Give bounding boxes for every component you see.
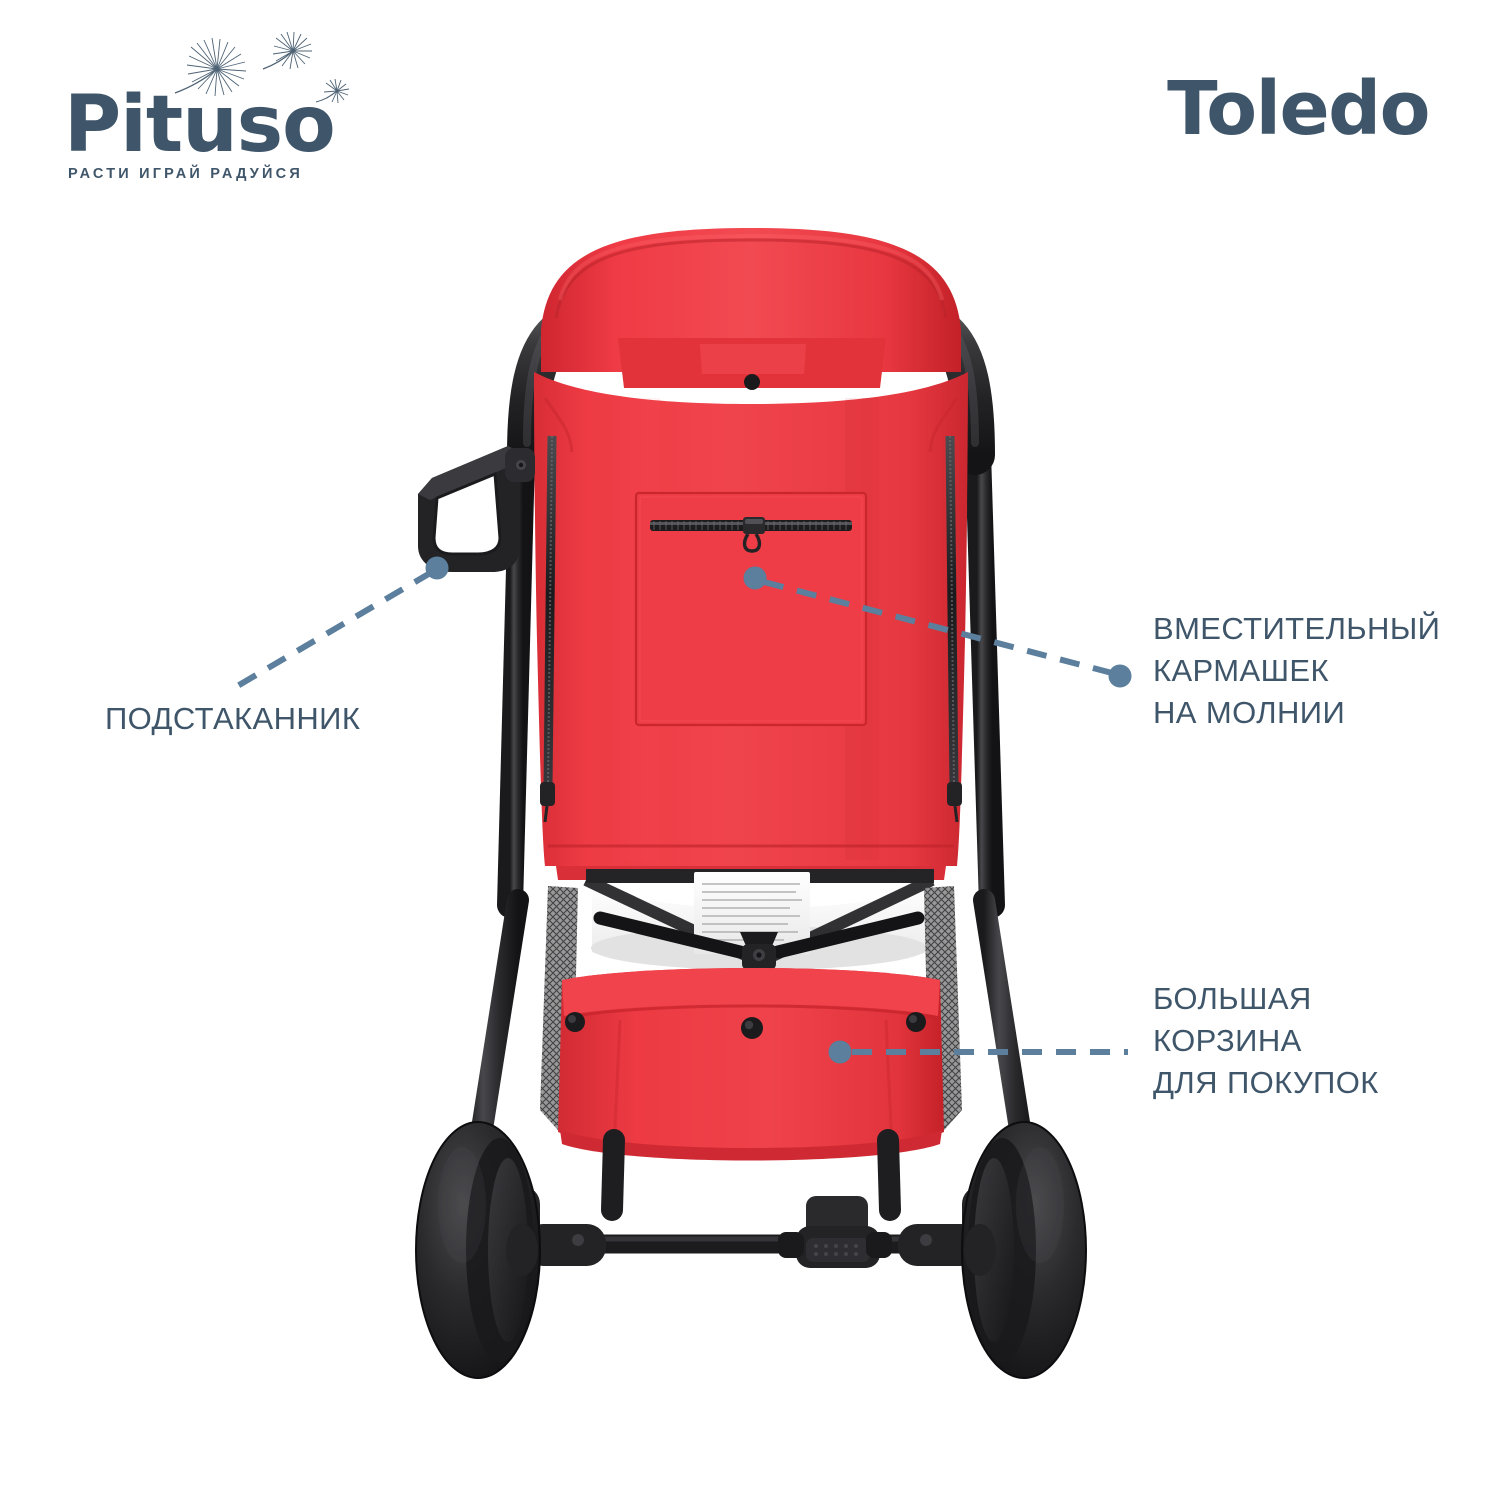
product-image-stroller: Pituso: [0, 0, 1501, 1501]
callout-cupholder: ПОДСТАКАННИК: [105, 698, 360, 740]
wheel-rear-left: [416, 1122, 540, 1378]
callout-pocket-line-1: ВМЕСТИТЕЛЬНЫЙ: [1153, 608, 1440, 650]
callout-basket-line-1: БОЛЬШАЯ: [1153, 978, 1379, 1020]
callout-basket-line-3: ДЛЯ ПОКУПОК: [1153, 1062, 1379, 1104]
stroller-canopy: [541, 228, 961, 390]
callout-pocket-line-2: КАРМАШЕК: [1153, 650, 1440, 692]
leader-dot-pocket-end: [1109, 665, 1131, 687]
infographic-canvas: Pituso РАСТИ ИГРАЙ РАДУЙСЯ Toledo: [0, 0, 1501, 1501]
basket-snap-right: [906, 1012, 926, 1032]
callout-cupholder-line-1: ПОДСТАКАННИК: [105, 698, 360, 740]
basket-snap-center: [741, 1017, 763, 1039]
callout-pocket-line-3: НА МОЛНИИ: [1153, 692, 1440, 734]
callout-basket: БОЛЬШАЯ КОРЗИНА ДЛЯ ПОКУПОК: [1153, 978, 1379, 1104]
brake-pedal: [778, 1196, 892, 1268]
leader-dot-pocket: [744, 567, 766, 589]
basket-snap-left: [565, 1012, 585, 1032]
rear-zip-pocket: [636, 493, 866, 725]
leader-dot-basket: [829, 1041, 851, 1063]
callout-basket-line-2: КОРЗИНА: [1153, 1020, 1379, 1062]
cup-holder: [418, 446, 535, 572]
callout-pocket: ВМЕСТИТЕЛЬНЫЙ КАРМАШЕК НА МОЛНИИ: [1153, 608, 1440, 734]
wheel-rear-right: [962, 1122, 1086, 1378]
